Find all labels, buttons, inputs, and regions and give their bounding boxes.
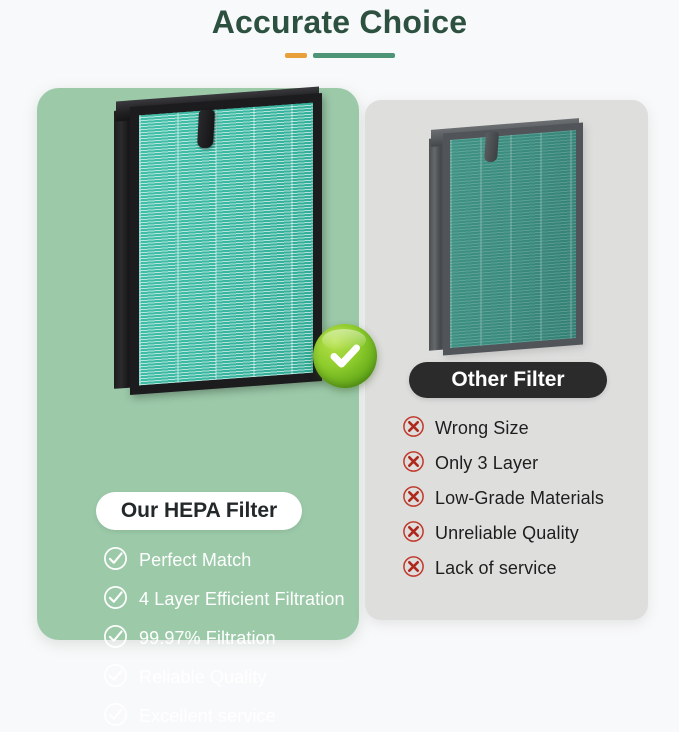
list-item-label: Reliable Quality [139,668,267,688]
divider-line [313,53,395,58]
check-circle-icon [103,546,128,576]
other-filter-label-pill: Other Filter [409,362,607,398]
check-circle-icon [103,624,128,654]
list-item: 4 Layer Efficient Filtration [103,585,393,615]
list-item-label: Wrong Size [435,419,529,439]
check-circle-icon [103,702,128,732]
list-item: 99.97% Filtration [103,624,393,654]
x-circle-icon [402,450,425,478]
filter-pleated-media [139,103,313,386]
x-circle-icon [402,415,425,443]
list-item: Unreliable Quality [402,520,652,548]
other-filter-pleated-media [450,130,576,348]
list-item-label: Lack of service [435,559,557,579]
list-item: Lack of service [402,555,652,583]
list-item: Wrong Size [402,415,652,443]
list-item-label: Unreliable Quality [435,524,579,544]
list-item: Low-Grade Materials [402,485,652,513]
other-filter-feature-list: Wrong Size Only 3 Layer Low-Grade Materi… [402,415,652,583]
list-item: Perfect Match [103,546,393,576]
list-item-label: Low-Grade Materials [435,489,604,509]
page-title: Accurate Choice [0,4,679,41]
green-check-badge-icon [313,324,377,388]
x-circle-icon [402,520,425,548]
hepa-filter-product-image [102,86,342,406]
list-item-label: 4 Layer Efficient Filtration [139,590,345,610]
x-circle-icon [402,555,425,583]
list-item-label: Perfect Match [139,551,251,571]
title-divider [0,53,679,61]
check-circle-icon [103,663,128,693]
our-filter-panel: Our HEPA Filter Perfect Match 4 Layer Ef… [37,88,359,640]
list-item-label: Excellent service [139,707,276,727]
other-filter-pull-tab-icon [484,132,499,162]
list-item-label: Only 3 Layer [435,454,538,474]
check-circle-icon [103,585,128,615]
list-item: Reliable Quality [103,663,393,693]
our-filter-feature-list: Perfect Match 4 Layer Efficient Filtrati… [103,546,393,732]
list-item: Only 3 Layer [402,450,652,478]
list-item-label: 99.97% Filtration [139,629,276,649]
x-circle-icon [402,485,425,513]
divider-accent-dash [285,53,307,58]
header: Accurate Choice [0,0,679,88]
our-filter-label-pill: Our HEPA Filter [96,492,302,530]
list-item: Excellent service [103,702,393,732]
other-filter-body [443,122,583,355]
filter-body [130,93,322,395]
filter-pull-tab-icon [197,110,215,148]
other-filter-product-image [413,112,603,362]
